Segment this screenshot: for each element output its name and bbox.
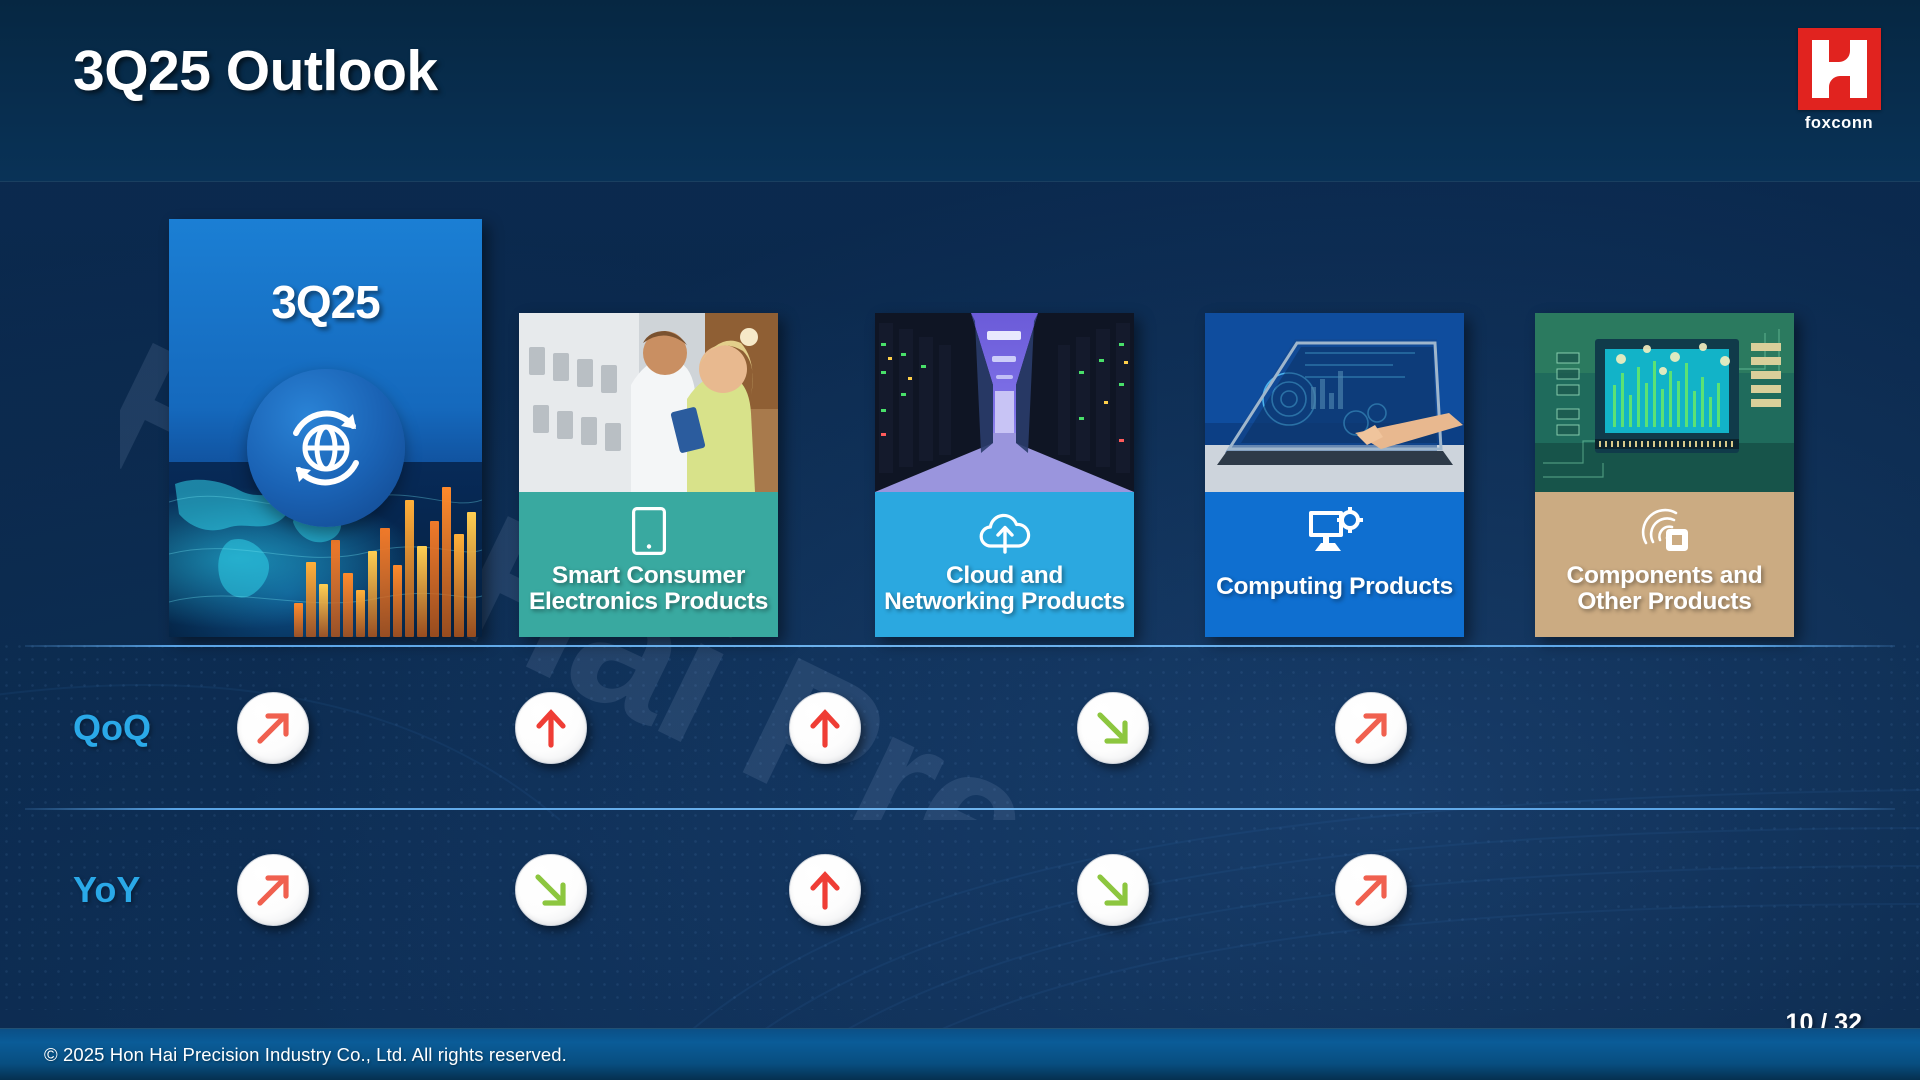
arrow-up-right-icon: [237, 854, 309, 926]
hero-bar: [294, 603, 303, 637]
product-card-row: 3Q25: [0, 182, 1920, 647]
store-scene-illustration-icon: [519, 313, 778, 492]
data-center-illustration-icon: [875, 313, 1134, 492]
hero-bar: [368, 551, 377, 637]
slide-footer: © 2025 Hon Hai Precision Industry Co., L…: [0, 1028, 1920, 1080]
product-card-computing: Computing Products: [1205, 313, 1464, 637]
indicator-qoq-4: [1077, 692, 1149, 764]
row-label-qoq: QoQ: [73, 707, 151, 749]
logo-h-glyph-icon: [1798, 28, 1881, 110]
arrow-down-right-icon: [515, 854, 587, 926]
arrow-down-right-icon: [1077, 692, 1149, 764]
cloud-upload-icon: [976, 505, 1034, 557]
arrow-up-icon: [789, 854, 861, 926]
card-caption: Computing Products: [1205, 492, 1464, 637]
indicator-yoy-3: [789, 854, 861, 926]
arrow-up-right-icon: [1335, 854, 1407, 926]
hero-bar: [442, 487, 451, 637]
photo-laptop-hologram: [1205, 313, 1464, 492]
hero-bar: [319, 584, 328, 637]
foxconn-h-mark-icon: [1798, 28, 1881, 110]
foxconn-wordmark: foxconn: [1791, 114, 1887, 133]
divider-line-top: [25, 645, 1895, 647]
indicator-qoq-2: [515, 692, 587, 764]
hero-bar: [417, 546, 426, 637]
arrow-up-icon: [515, 692, 587, 764]
indicator-yoy-4: [1077, 854, 1149, 926]
photo-circuit-board-chip: [1535, 313, 1794, 492]
foxconn-logo: foxconn: [1791, 28, 1887, 133]
hero-bar: [454, 534, 463, 637]
hero-bar: [393, 565, 402, 637]
hero-bar: [467, 512, 476, 637]
arrow-up-icon: [789, 692, 861, 764]
card-caption: Components and Other Products: [1535, 492, 1794, 637]
indicator-row-qoq: QoQ: [0, 648, 1920, 808]
indicator-qoq-5: [1335, 692, 1407, 764]
monitor-gear-icon: [1307, 505, 1363, 557]
circuit-board-illustration-icon: [1535, 313, 1794, 492]
product-card-components: Components and Other Products: [1535, 313, 1794, 637]
hero-bar: [343, 573, 352, 637]
arrow-up-right-icon: [237, 692, 309, 764]
slide-header: 3Q25 Outlook foxconn: [0, 0, 1920, 182]
hero-bar: [380, 528, 389, 637]
copyright-text: © 2025 Hon Hai Precision Industry Co., L…: [44, 1044, 567, 1066]
card-caption: Smart Consumer Electronics Products: [519, 492, 778, 637]
card-label: Computing Products: [1212, 574, 1457, 600]
indicator-yoy-5: [1335, 854, 1407, 926]
hero-globe-badge: [247, 369, 405, 527]
photo-data-center-aisle: [875, 313, 1134, 492]
page-title: 3Q25 Outlook: [73, 38, 438, 104]
hero-card-3q25: 3Q25: [169, 219, 482, 637]
card-label: Components and Other Products: [1535, 563, 1794, 615]
chip-wireless-icon: [1638, 505, 1692, 557]
card-caption: Cloud and Networking Products: [875, 492, 1134, 637]
slide: Hon Hai Precision 3Q25 Outlook foxconn: [0, 0, 1920, 1080]
hero-bar: [306, 562, 315, 637]
arrow-up-right-icon: [1335, 692, 1407, 764]
hero-bar: [430, 521, 439, 637]
card-label: Smart Consumer Electronics Products: [519, 563, 778, 615]
card-label: Cloud and Networking Products: [875, 563, 1134, 615]
indicator-qoq-1: [237, 692, 309, 764]
indicator-qoq-3: [789, 692, 861, 764]
indicator-yoy-1: [237, 854, 309, 926]
hero-card-title: 3Q25: [169, 275, 482, 329]
product-card-smart-consumer-electronics: Smart Consumer Electronics Products: [519, 313, 778, 637]
tablet-icon: [631, 505, 667, 557]
globe-refresh-icon: [274, 396, 378, 500]
row-label-yoy: YoY: [73, 869, 140, 911]
hero-bar: [331, 540, 340, 637]
laptop-hologram-illustration-icon: [1205, 313, 1464, 492]
indicator-yoy-2: [515, 854, 587, 926]
hero-bar: [356, 590, 365, 637]
hero-bar: [405, 500, 414, 638]
indicator-row-yoy: YoY: [0, 810, 1920, 970]
photo-couple-in-phone-store: [519, 313, 778, 492]
arrow-down-right-icon: [1077, 854, 1149, 926]
product-card-cloud-networking: Cloud and Networking Products: [875, 313, 1134, 637]
